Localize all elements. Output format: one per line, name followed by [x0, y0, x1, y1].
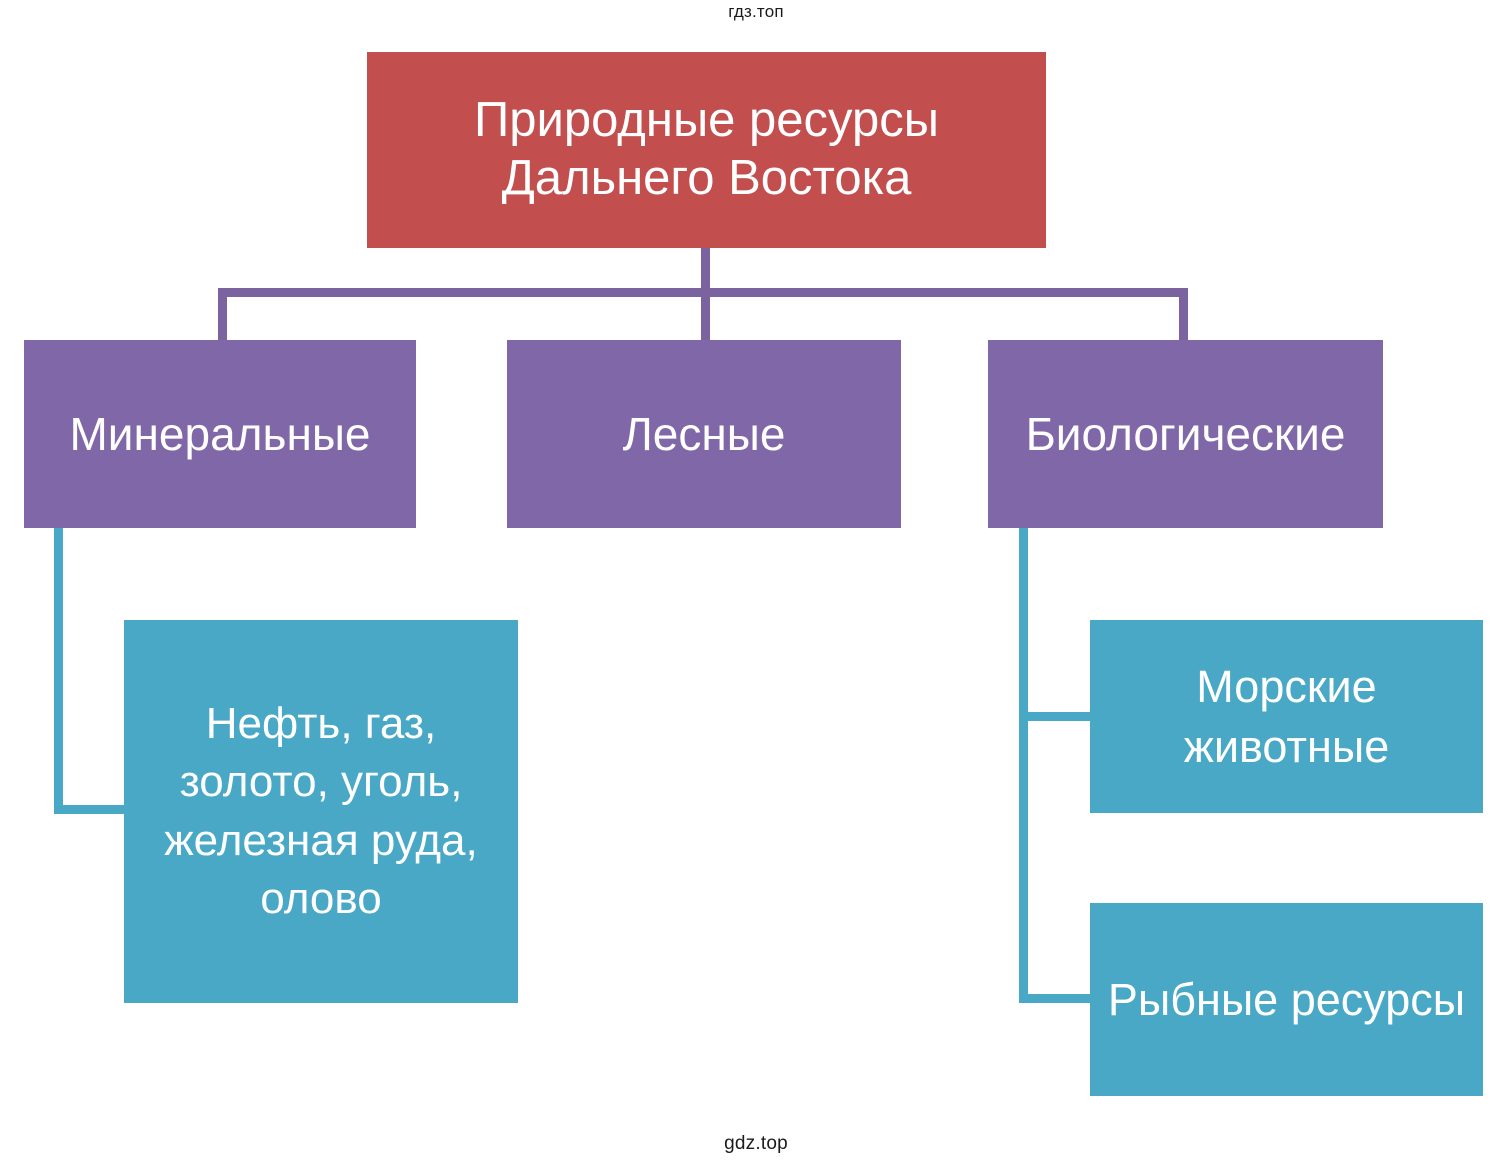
- node-forest-resources: Лесные: [507, 340, 901, 528]
- connector-biological-horizontal-sea-animals: [1019, 712, 1093, 721]
- connector-drop-biological: [1179, 288, 1188, 342]
- node-minerals-list: Нефть, газ, золото, уголь, железная руда…: [124, 620, 518, 1003]
- node-root-natural-resources: Природные ресурсы Дальнего Востока: [367, 52, 1046, 248]
- connector-root-stem: [701, 248, 710, 292]
- watermark-top: гдз.топ: [0, 2, 1512, 22]
- connector-biological-horizontal-fish-resources: [1019, 994, 1093, 1003]
- connector-biological-vertical: [1019, 528, 1028, 1003]
- connector-drop-forest: [701, 288, 710, 342]
- node-fish-resources: Рыбные ресурсы: [1090, 903, 1483, 1096]
- diagram-canvas: гдз.топ Природные ресурсы Дальнего Восто…: [0, 0, 1512, 1166]
- watermark-bottom: gdz.top: [0, 1133, 1512, 1155]
- connector-drop-mineral: [218, 288, 227, 342]
- connector-mineral-horizontal: [54, 805, 126, 814]
- node-mineral-resources: Минеральные: [24, 340, 416, 528]
- node-sea-animals: Морские животные: [1090, 620, 1483, 813]
- node-biological-resources: Биологические: [988, 340, 1383, 528]
- connector-mineral-vertical: [54, 528, 63, 814]
